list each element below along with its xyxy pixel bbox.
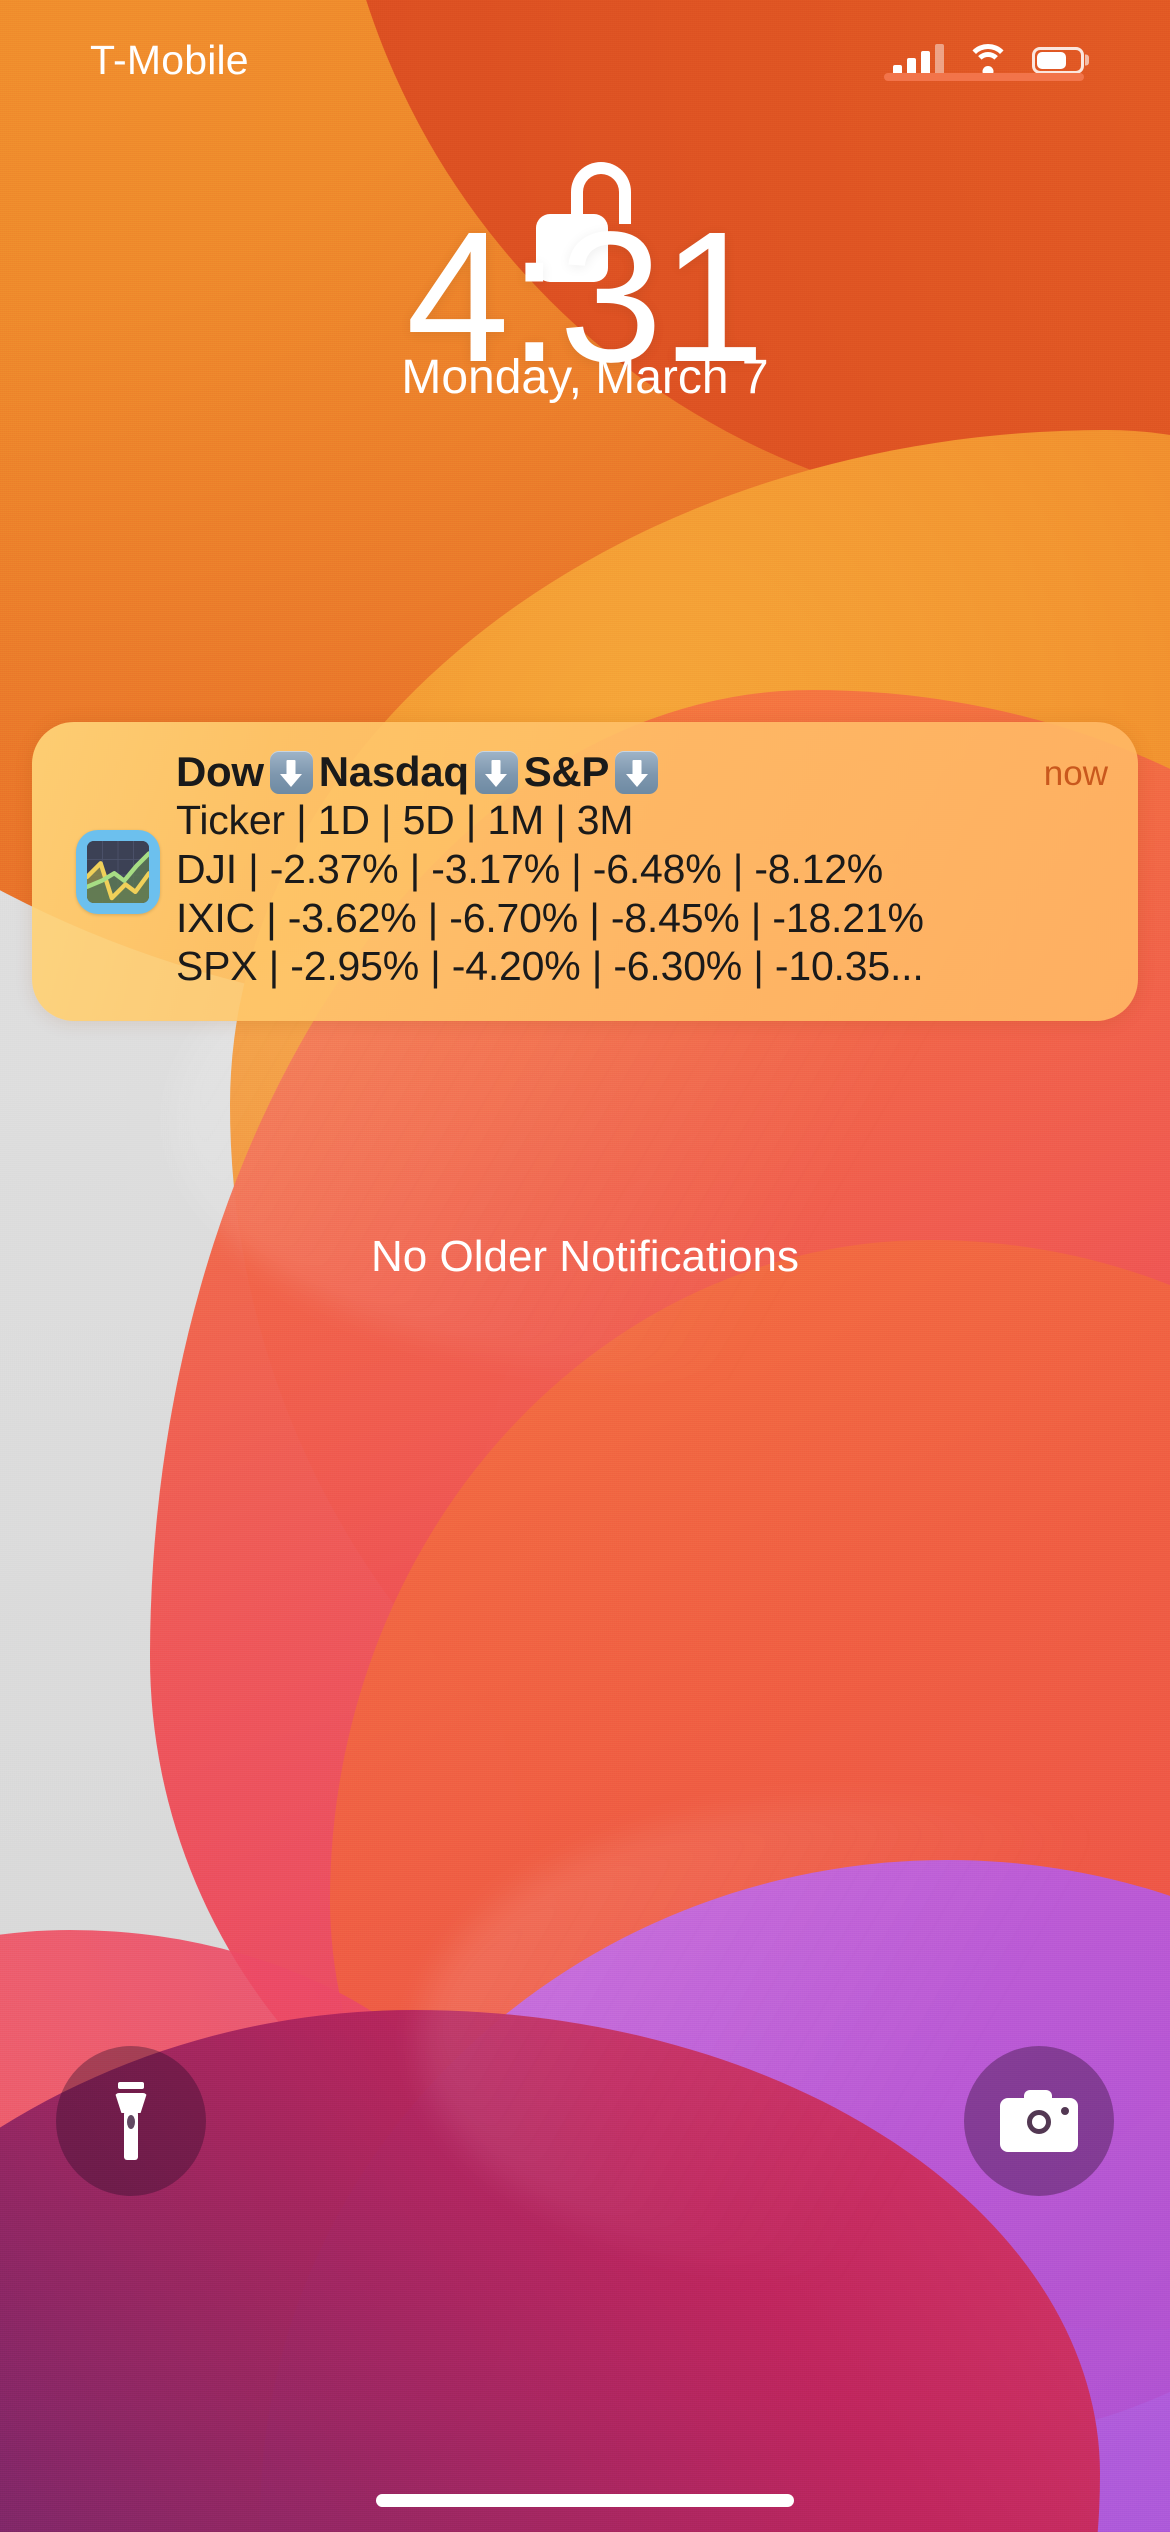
status-bar: T-Mobile (0, 0, 1170, 120)
down-arrow-emoji (270, 751, 313, 794)
status-bar-right-group (893, 43, 1084, 77)
notification-app-icon-wrap (62, 748, 174, 991)
wallpaper-sheen-2 (420, 1800, 1170, 2280)
notification-title-part-nasdaq: Nasdaq (319, 748, 469, 796)
flashlight-icon (114, 2082, 148, 2160)
carrier-label: T-Mobile (90, 37, 249, 84)
notification-table-row: DJI | -2.37% | -3.17% | -6.48% | -8.12% (176, 845, 1108, 894)
cellular-signal-icon (893, 43, 944, 77)
lock-screen: T-Mobile 4:31 Monday, March 7 (0, 0, 1170, 2532)
battery-icon (1032, 47, 1084, 74)
stocks-app-icon (76, 830, 160, 914)
status-bar-underline (884, 73, 1084, 81)
down-arrow-emoji (615, 751, 658, 794)
notification-table-row: SPX | -2.95% | -4.20% | -6.30% | -10.35.… (176, 942, 1108, 991)
notification-header-row: Dow Nasdaq S&P now (176, 748, 1108, 796)
notification-title-part-dow: Dow (176, 748, 264, 796)
notification-table-row: IXIC | -3.62% | -6.70% | -8.45% | -18.21… (176, 894, 1108, 943)
wallpaper-shape-pink (0, 1930, 520, 2532)
notification-table-header: Ticker | 1D | 5D | 1M | 3M (176, 796, 1108, 845)
wallpaper-shape-red-2 (330, 1240, 1170, 2440)
wallpaper-shape-orange-3 (230, 430, 1170, 1930)
notification-title-part-sp: S&P (524, 748, 609, 796)
home-indicator[interactable] (376, 2494, 794, 2507)
notification-title: Dow Nasdaq S&P (176, 748, 658, 796)
clock-date: Monday, March 7 (0, 350, 1170, 405)
notification-body: Dow Nasdaq S&P now Ticker | 1D | 5D | 1M… (174, 748, 1108, 991)
notification-timestamp: now (1044, 748, 1108, 794)
camera-icon (1000, 2090, 1078, 2152)
wifi-icon (966, 44, 1010, 77)
flashlight-button[interactable] (56, 2046, 206, 2196)
down-arrow-emoji (475, 751, 518, 794)
wallpaper-shape-purple (260, 1860, 1170, 2532)
camera-button[interactable] (964, 2046, 1114, 2196)
no-older-notifications-label: No Older Notifications (0, 1232, 1170, 1282)
notification-card[interactable]: Dow Nasdaq S&P now Ticker | 1D | 5D | 1M… (32, 722, 1138, 1021)
